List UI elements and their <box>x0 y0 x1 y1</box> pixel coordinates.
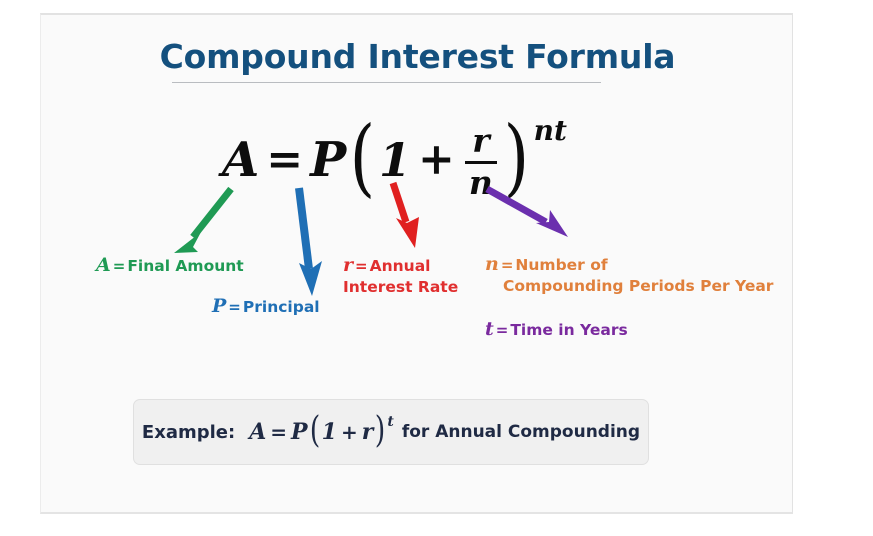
formula-open-paren: ( <box>350 115 376 199</box>
formula-equals: = <box>259 138 310 182</box>
legend-text-r-line1: Annual <box>370 257 431 275</box>
example-open-paren: ( <box>309 413 320 449</box>
example-tail-text: for Annual Compounding <box>402 422 640 442</box>
example-var-p: P <box>291 421 308 443</box>
example-equals: = <box>266 422 291 442</box>
legend-text-r-line2: Interest Rate <box>343 277 458 298</box>
legend-compounding-periods: n=Number of Compounding Periods Per Year <box>485 254 773 297</box>
legend-symbol-n: n <box>485 253 499 275</box>
legend-symbol-t: t <box>485 318 494 340</box>
legend-equals-a: = <box>111 257 128 275</box>
legend-equals-p: = <box>226 298 243 316</box>
formula-var-p: P <box>310 136 346 184</box>
formula-frac-numerator: r <box>468 124 493 158</box>
legend-equals-n: = <box>499 256 516 274</box>
title-underline <box>172 82 601 83</box>
example-plus: + <box>337 422 362 442</box>
main-formula: A = P ( 1 + r n ) nt <box>222 115 567 205</box>
example-box: Example: A = P ( 1 + r ) t for Annual Co… <box>133 399 649 465</box>
title-block: Compound Interest Formula <box>41 37 794 77</box>
legend-text-t: Time in Years <box>510 321 627 339</box>
legend-equals-t: = <box>494 321 511 339</box>
legend-interest-rate: r=Annual Interest Rate <box>343 255 458 298</box>
example-close-paren: ) <box>375 413 386 449</box>
example-formula: A = P ( 1 + r ) t <box>249 414 394 450</box>
legend-text-n-line2: Compounding Periods Per Year <box>485 276 773 297</box>
example-var-r: r <box>362 421 374 443</box>
formula-close-paren: ) <box>503 115 529 199</box>
page-title: Compound Interest Formula <box>41 37 794 77</box>
formula-plus: + <box>411 138 462 182</box>
example-one: 1 <box>322 421 337 443</box>
legend-symbol-a: A <box>96 254 111 276</box>
legend-text-a: Final Amount <box>127 257 243 275</box>
legend-symbol-p: P <box>212 295 226 317</box>
example-label: Example: <box>142 422 235 443</box>
legend-text-p: Principal <box>243 298 320 316</box>
legend-text-n-line1: Number of <box>515 256 607 274</box>
formula-fraction: r n <box>465 124 497 200</box>
legend-symbol-r: r <box>343 254 353 276</box>
legend-principal: P=Principal <box>212 296 320 318</box>
formula-one: 1 <box>379 137 411 183</box>
example-content: Example: A = P ( 1 + r ) t for Annual Co… <box>142 414 640 450</box>
formula-exponent: nt <box>534 117 567 145</box>
legend-time-in-years: t=Time in Years <box>485 319 628 341</box>
formula-frac-denominator: n <box>465 166 497 200</box>
legend-final-amount: A=Final Amount <box>96 255 244 277</box>
slide-card: Compound Interest Formula A = P ( 1 + r … <box>40 13 793 514</box>
example-var-a: A <box>249 421 266 443</box>
legend-equals-r: = <box>353 257 370 275</box>
formula-var-a: A <box>222 136 259 184</box>
example-exponent: t <box>387 415 393 429</box>
